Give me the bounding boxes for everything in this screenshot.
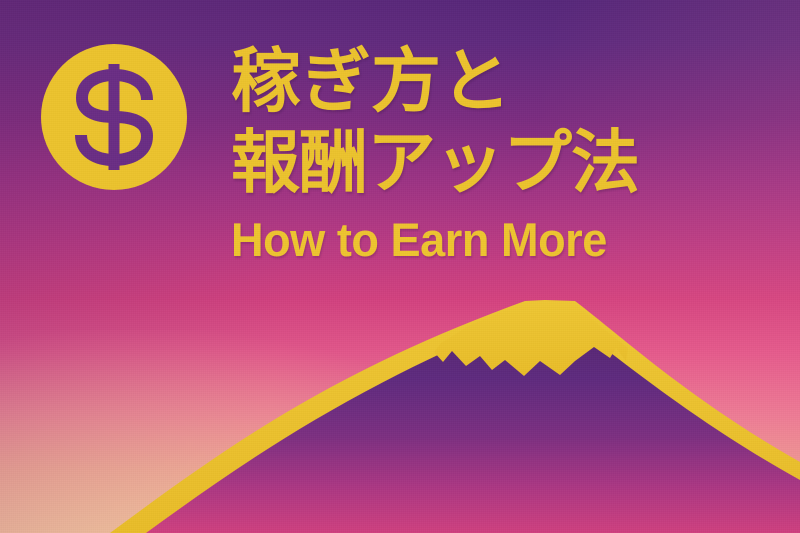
headline-block: 稼ぎ方と 報酬アップ法 How to Earn More [231, 40, 751, 268]
gold-coin-dollar-icon [40, 43, 188, 191]
poster-canvas: 稼ぎ方と 報酬アップ法 How to Earn More [0, 0, 800, 533]
coin-svg [40, 43, 188, 191]
dollar-sign-glyph [81, 64, 147, 170]
subtitle-english: How to Earn More [231, 212, 730, 268]
headline-japanese-line-2: 報酬アップ法 [231, 122, 751, 204]
headline-japanese-line-1: 稼ぎ方と [231, 40, 751, 122]
